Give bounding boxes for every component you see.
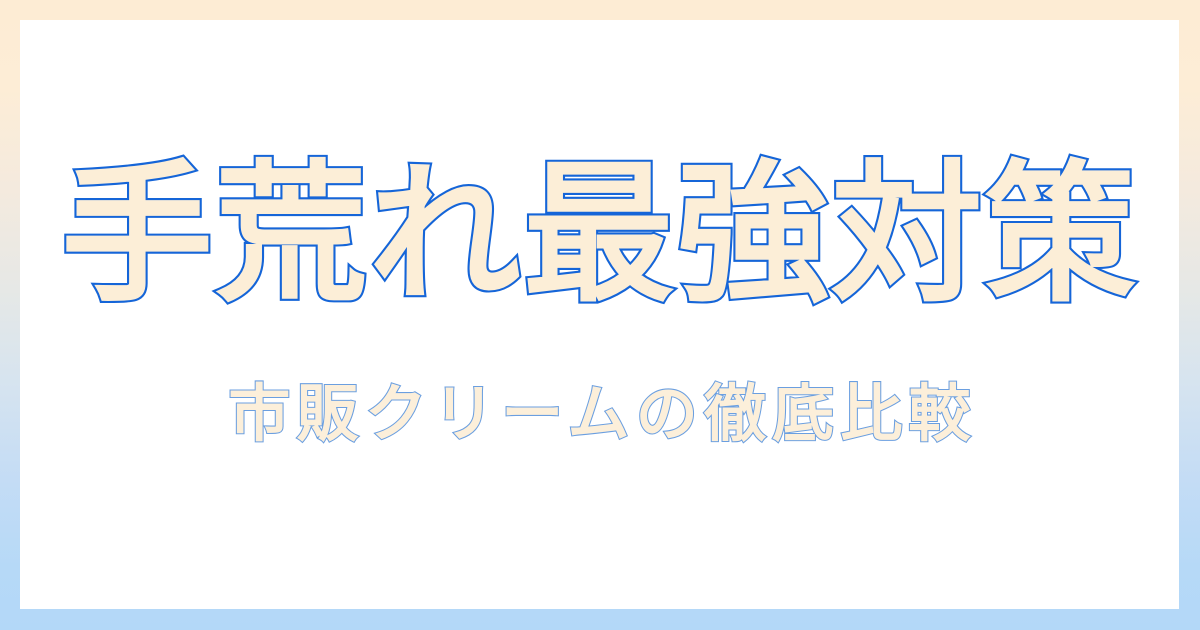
poster-title: 手荒れ最強対策 xyxy=(61,159,1138,311)
poster-card: 手荒れ最強対策 市販クリームの徹底比較 xyxy=(20,20,1179,609)
poster-text-stack: 手荒れ最強対策 市販クリームの徹底比較 xyxy=(20,20,1179,609)
poster-frame: 手荒れ最強対策 市販クリームの徹底比較 xyxy=(0,0,1200,630)
poster-subtitle: 市販クリームの徹底比較 xyxy=(222,383,977,445)
